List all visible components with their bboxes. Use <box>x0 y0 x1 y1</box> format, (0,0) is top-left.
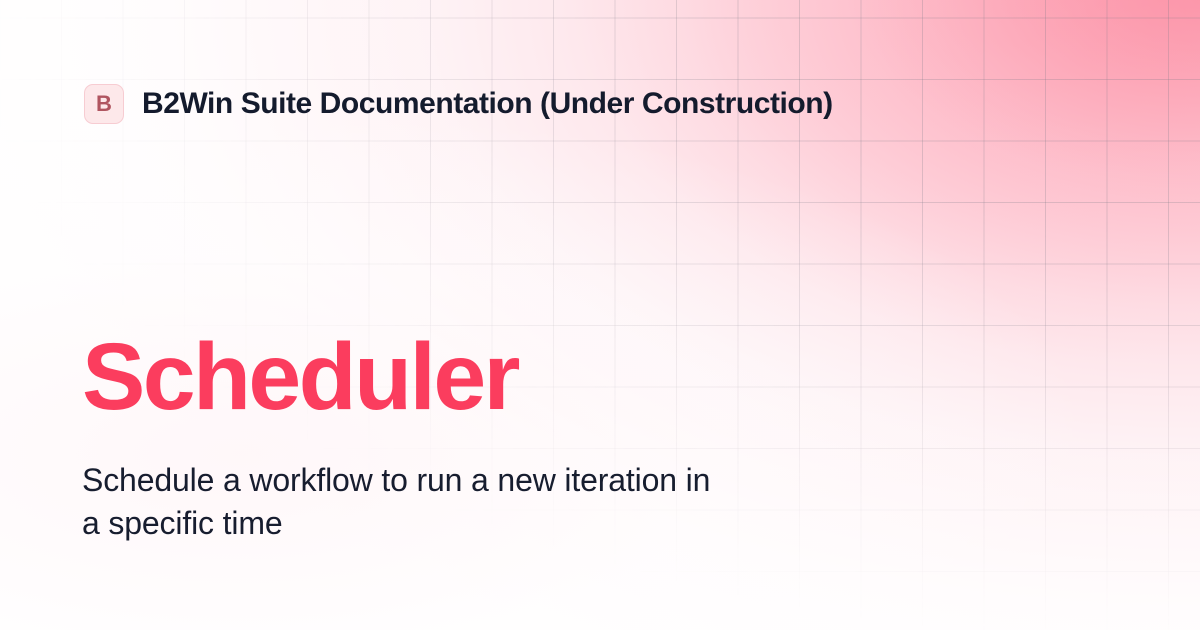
page-subtitle: Schedule a workflow to run a new iterati… <box>82 459 872 545</box>
page-subtitle-line-2: a specific time <box>82 502 872 545</box>
brand-header: B B2Win Suite Documentation (Under Const… <box>84 84 833 124</box>
page-subtitle-line-1: Schedule a workflow to run a new iterati… <box>82 459 872 502</box>
brand-title: B2Win Suite Documentation (Under Constru… <box>142 89 833 119</box>
brand-badge-letter: B <box>96 93 112 115</box>
hero-section: Scheduler Schedule a workflow to run a n… <box>82 330 982 545</box>
banner-content: B B2Win Suite Documentation (Under Const… <box>0 0 1200 630</box>
b2win-logo-badge: B <box>84 84 124 124</box>
documentation-banner: B B2Win Suite Documentation (Under Const… <box>0 0 1200 630</box>
page-title: Scheduler <box>82 330 982 425</box>
